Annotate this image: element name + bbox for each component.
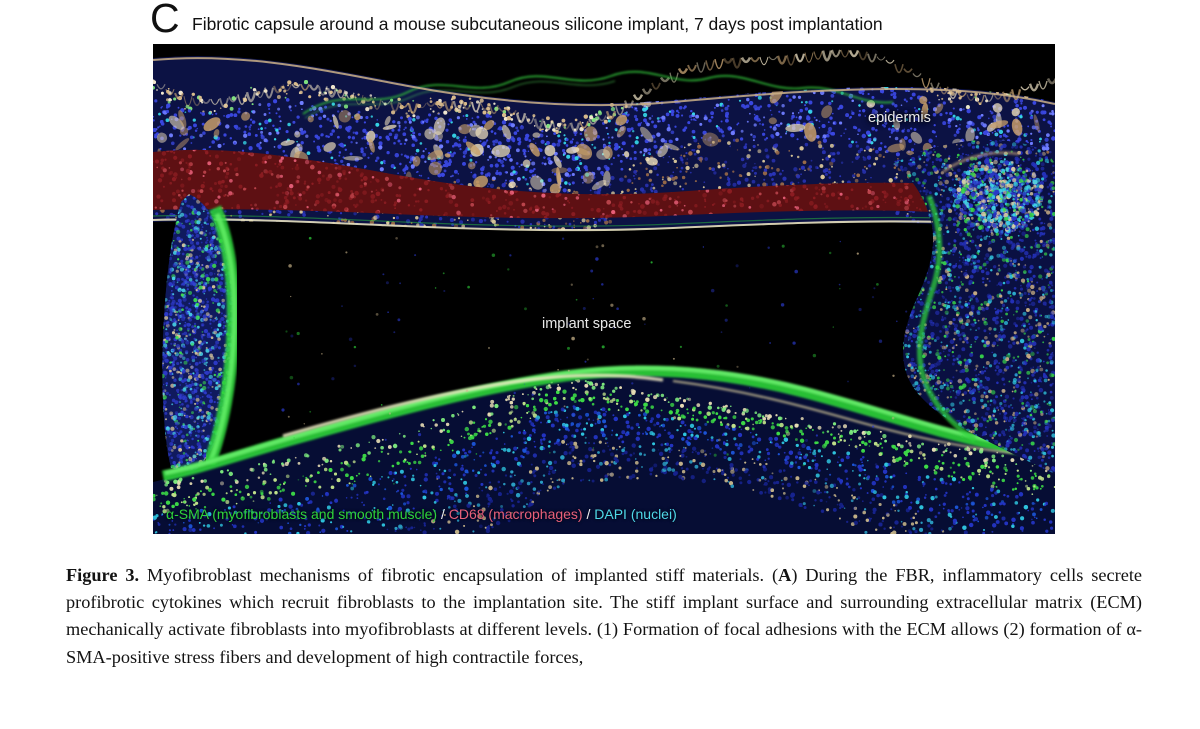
legend-separator-2: / <box>583 506 595 522</box>
legend-dapi: DAPI (nuclei) <box>594 506 676 522</box>
legend-separator-1: / <box>437 506 449 522</box>
figure-caption: Figure 3. Myofibroblast mechanisms of fi… <box>66 562 1142 671</box>
panel-title: Fibrotic capsule around a mouse subcutan… <box>192 14 883 35</box>
panel-letter: C <box>150 0 180 38</box>
figure-caption-text-1: Myofibroblast mechanisms of fibrotic enc… <box>139 565 778 585</box>
figure-page: C Fibrotic capsule around a mouse subcut… <box>0 0 1200 729</box>
legend-cd68: CD68 (macrophages) <box>449 506 583 522</box>
panel-header: C Fibrotic capsule around a mouse subcut… <box>150 2 1100 42</box>
fluorescence-micrograph: epidermis implant space α-SMA (myofibrob… <box>153 44 1055 534</box>
micrograph-canvas <box>153 44 1055 534</box>
figure-caption-label: Figure 3. <box>66 565 139 585</box>
legend-alpha-sma: α-SMA (myofibroblasts and smooth muscle) <box>166 506 437 522</box>
figure-caption-panel-a: A <box>778 565 791 585</box>
channel-legend: α-SMA (myofibroblasts and smooth muscle)… <box>166 506 677 522</box>
